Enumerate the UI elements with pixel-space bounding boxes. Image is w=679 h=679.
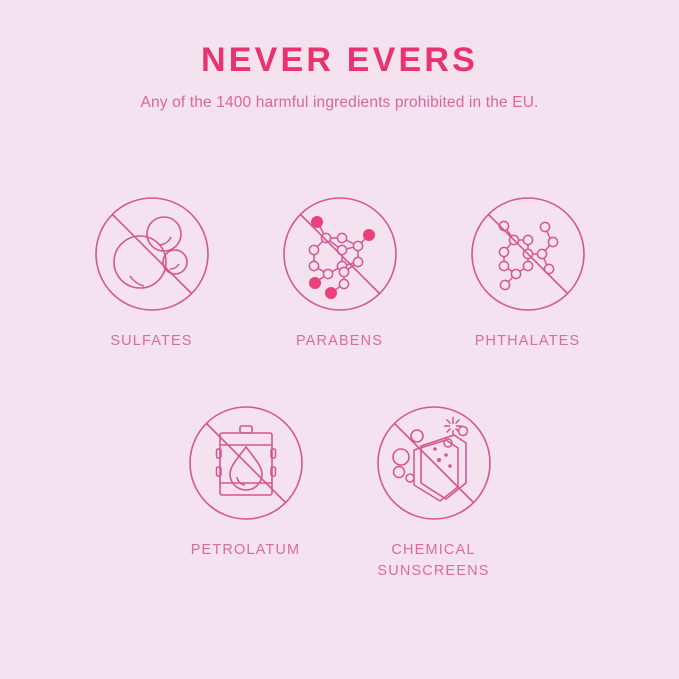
ingredient-label: PARABENS	[296, 331, 383, 352]
page-title: NEVER EVERS	[0, 42, 679, 79]
header: NEVER EVERS Any of the 1400 harmful ingr…	[0, 42, 679, 114]
ingredient-row: SULFATES	[0, 196, 679, 352]
no-chemical-sunscreens-bottle-icon	[376, 405, 492, 521]
ingredient-row: PETROLATUM	[0, 405, 679, 582]
no-phthalates-molecule-icon	[470, 196, 586, 312]
ingredient-label: PETROLATUM	[191, 540, 301, 561]
no-parabens-molecule-icon	[282, 196, 398, 312]
no-sulfates-bubbles-icon	[94, 196, 210, 312]
ingredient-item-petrolatum: PETROLATUM	[188, 405, 304, 561]
never-evers-infographic: NEVER EVERS Any of the 1400 harmful ingr…	[0, 0, 679, 679]
ingredient-item-sulfates: SULFATES	[94, 196, 210, 352]
ingredient-item-parabens: PARABENS	[282, 196, 398, 352]
ingredient-label: CHEMICAL SUNSCREENS	[377, 540, 489, 582]
no-petrolatum-barrel-icon	[188, 405, 304, 521]
ingredient-item-phthalates: PHTHALATES	[470, 196, 586, 352]
page-subtitle: Any of the 1400 harmful ingredients proh…	[0, 93, 679, 113]
ingredient-label: PHTHALATES	[475, 331, 581, 352]
ingredient-label: SULFATES	[110, 331, 192, 352]
ingredient-item-chemical-sunscreens: CHEMICAL SUNSCREENS	[376, 405, 492, 582]
ingredient-grid: SULFATES	[0, 196, 679, 582]
